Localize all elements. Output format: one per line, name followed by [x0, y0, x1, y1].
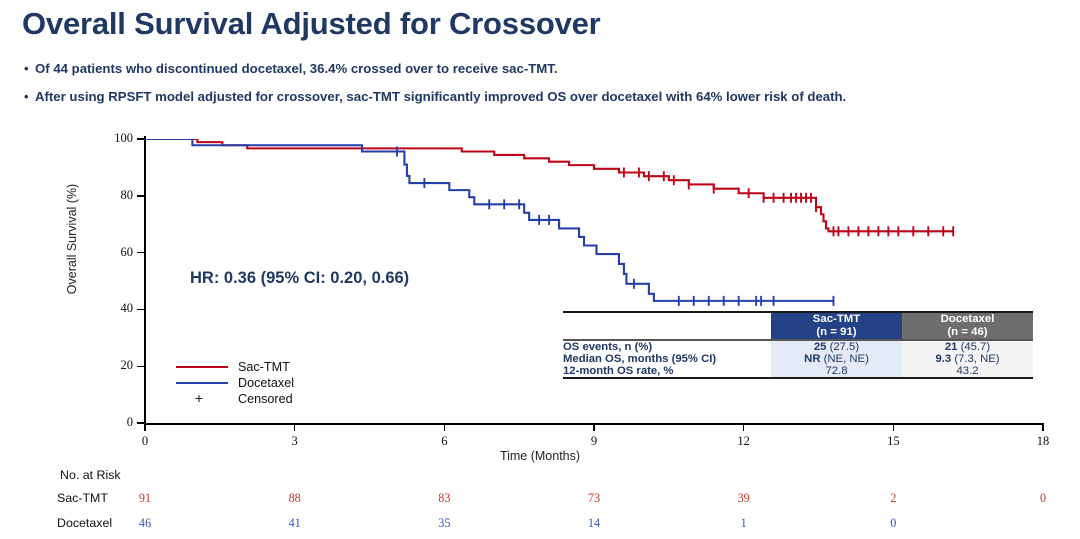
risk-value: 46	[127, 516, 163, 531]
table-header-row: Sac-TMT(n = 91)Docetaxel(n = 46)	[563, 313, 1033, 339]
y-axis-title: Overall Survival (%)	[65, 159, 79, 319]
x-tick-mark	[893, 424, 895, 431]
table-header-blank	[563, 313, 771, 339]
x-tick-mark	[294, 424, 296, 431]
cell-value-secondary: (45.7)	[957, 341, 990, 353]
y-tick-mark	[137, 309, 144, 311]
table-row-label: OS events, n (%)	[563, 341, 771, 353]
risk-value: 88	[277, 491, 313, 506]
table-row: OS events, n (%)25 (27.5)21 (45.7)	[563, 341, 1033, 353]
legend-label: Docetaxel	[230, 376, 294, 390]
table-bottom-rule	[563, 377, 1033, 379]
bullet-text: Of 44 patients who discontinued docetaxe…	[35, 61, 558, 76]
cell-value-primary: 9.3	[935, 353, 951, 365]
cell-value-secondary: (NE, NE)	[821, 353, 869, 365]
risk-value: 2	[875, 491, 911, 506]
y-tick-label: 80	[93, 188, 133, 203]
legend-line-swatch	[176, 382, 228, 384]
y-tick-mark	[137, 422, 144, 424]
plus-icon: +	[168, 390, 230, 406]
y-tick-label: 100	[93, 131, 133, 146]
table-cell-doc: 21 (45.7)	[902, 341, 1033, 353]
table-cell-sac: 72.8	[771, 365, 902, 377]
no-at-risk-title: No. at Risk	[60, 468, 121, 482]
table-cell-doc: 43.2	[902, 365, 1033, 377]
legend-item-docetaxel: Docetaxel	[168, 375, 294, 391]
cell-value-primary: NR	[804, 353, 820, 365]
legend-item-sac-tmt: Sac-TMT	[168, 359, 294, 375]
risk-value: 41	[277, 516, 313, 531]
risk-value: 0	[875, 516, 911, 531]
y-tick-label: 60	[93, 245, 133, 260]
legend-line-icon	[168, 359, 230, 375]
x-tick-label: 12	[724, 434, 764, 449]
risk-value: 14	[576, 516, 612, 531]
risk-value: 83	[426, 491, 462, 506]
y-tick-mark	[137, 366, 144, 368]
x-tick-mark	[444, 424, 446, 431]
legend-line-swatch	[176, 366, 228, 368]
x-tick-label: 18	[1023, 434, 1063, 449]
legend-plus-icon: +	[168, 391, 230, 407]
table-header-docetaxel: Docetaxel(n = 46)	[902, 313, 1033, 339]
x-tick-label: 0	[125, 434, 165, 449]
bullet-dot-icon: •	[24, 89, 35, 103]
legend-label: Sac-TMT	[230, 360, 290, 374]
bullet-text: After using RPSFT model adjusted for cro…	[35, 89, 846, 104]
page-title: Overall Survival Adjusted for Crossover	[22, 6, 601, 42]
risk-value: 73	[576, 491, 612, 506]
bullet-item: • Of 44 patients who discontinued doceta…	[24, 61, 558, 76]
table-header-sac-tmt: Sac-TMT(n = 91)	[771, 313, 902, 339]
x-tick-mark	[1042, 424, 1044, 431]
legend-label: Censored	[230, 392, 293, 406]
risk-value: 0	[1025, 491, 1061, 506]
table-row: 12-month OS rate, %72.843.2	[563, 365, 1033, 377]
x-tick-label: 9	[574, 434, 614, 449]
x-tick-label: 3	[275, 434, 315, 449]
y-tick-mark	[137, 138, 144, 140]
risk-value: 39	[726, 491, 762, 506]
table-row-label: Median OS, months (95% CI)	[563, 353, 771, 365]
risk-value: 91	[127, 491, 163, 506]
table-row: Median OS, months (95% CI)NR (NE, NE)9.3…	[563, 353, 1033, 365]
x-tick-label: 15	[873, 434, 913, 449]
table-row-label: 12-month OS rate, %	[563, 365, 771, 377]
cell-value-secondary: (27.5)	[826, 341, 859, 353]
cell-value-secondary: 72.8	[826, 365, 848, 377]
y-tick-mark	[137, 195, 144, 197]
os-summary-table: Sac-TMT(n = 91)Docetaxel(n = 46)OS event…	[563, 311, 1033, 379]
bullet-item: • After using RPSFT model adjusted for c…	[24, 89, 846, 104]
cell-value-secondary: (7.3, NE)	[951, 353, 999, 365]
x-tick-mark	[593, 424, 595, 431]
cell-value-primary: 21	[945, 341, 958, 353]
x-axis-title: Time (Months)	[0, 449, 1080, 463]
x-tick-label: 6	[424, 434, 464, 449]
hazard-ratio-annotation: HR: 0.36 (95% CI: 0.20, 0.66)	[190, 269, 409, 288]
table-cell-sac: NR (NE, NE)	[771, 353, 902, 365]
table-header-name: Docetaxel	[902, 313, 1033, 326]
y-tick-mark	[137, 252, 144, 254]
cell-value-secondary: 43.2	[957, 365, 979, 377]
risk-row-label: Sac-TMT	[57, 491, 108, 505]
table-header-n: (n = 91)	[771, 326, 902, 339]
y-tick-label: 40	[93, 301, 133, 316]
legend-item-censored: +Censored	[168, 391, 294, 407]
bullet-dot-icon: •	[24, 61, 35, 75]
table-cell-sac: 25 (27.5)	[771, 341, 902, 353]
table-header-name: Sac-TMT	[771, 313, 902, 326]
x-tick-mark	[144, 424, 146, 431]
legend-line-icon	[168, 375, 230, 391]
y-tick-label: 0	[93, 415, 133, 430]
risk-row-label: Docetaxel	[57, 516, 112, 530]
table-header-n: (n = 46)	[902, 326, 1033, 339]
y-tick-label: 20	[93, 358, 133, 373]
x-tick-mark	[743, 424, 745, 431]
table-cell-doc: 9.3 (7.3, NE)	[902, 353, 1033, 365]
cell-value-primary: 25	[814, 341, 827, 353]
chart-legend: Sac-TMTDocetaxel+Censored	[168, 359, 294, 407]
risk-value: 1	[726, 516, 762, 531]
risk-value: 35	[426, 516, 462, 531]
